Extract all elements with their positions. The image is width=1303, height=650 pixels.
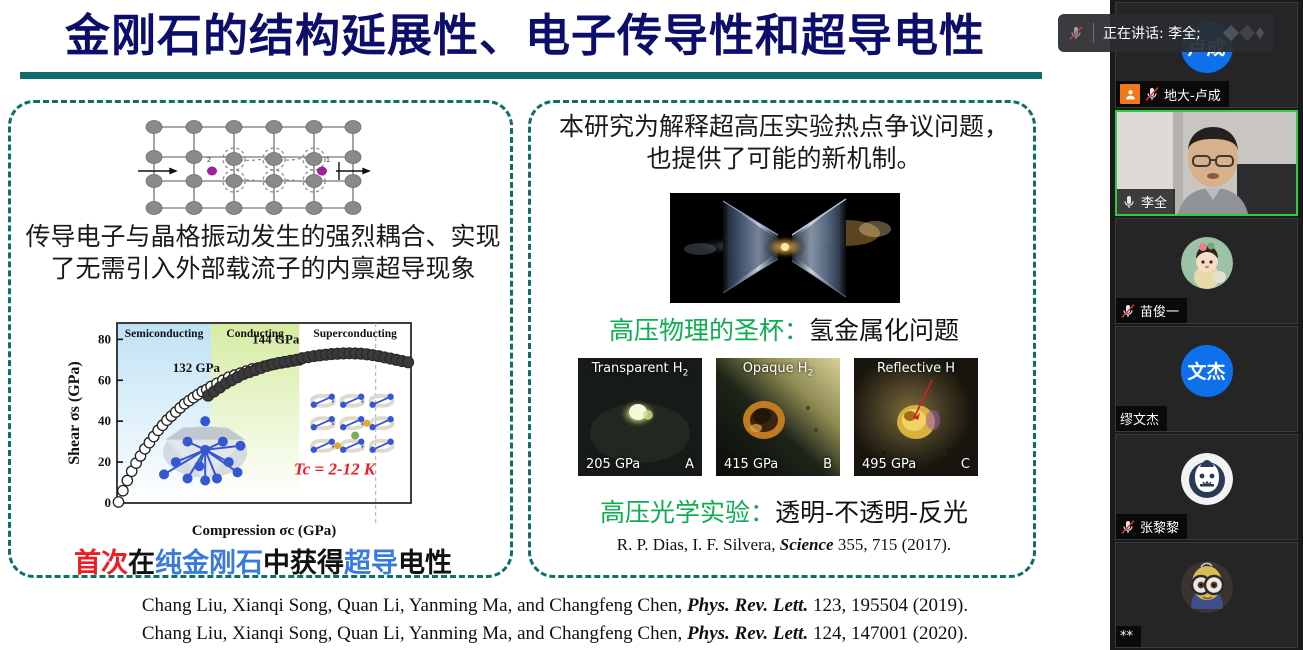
participant-name-chip: 苗俊一	[1116, 298, 1187, 323]
speaking-text: 正在讲话: 李全;	[1103, 23, 1201, 43]
participant-name-chip: 李全	[1117, 189, 1175, 214]
citation-authors: R. P. Dias, I. F. Silvera,	[617, 535, 780, 554]
svg-text:2: 2	[207, 157, 211, 164]
participant-name: 张黎黎	[1140, 517, 1179, 536]
title-underline-rule	[20, 72, 1042, 79]
participant-tile-2[interactable]: 苗俊一	[1115, 218, 1298, 324]
sample-image-b: Opaque H2 415 GPa B	[716, 358, 840, 476]
banner-divider	[1093, 23, 1094, 43]
right-panel-heading: 本研究为解释超高压实验热点争议问题， 也提供了可能的新机制。	[539, 111, 1029, 174]
zoom-logo-icon	[1222, 24, 1264, 42]
svg-text:Shear σs (GPa): Shear σs (GPa)	[66, 361, 83, 465]
host-badge-icon	[1120, 84, 1140, 104]
avatar-initials: 文杰	[1187, 357, 1225, 384]
right-head-line2: 也提供了可能的新机制。	[539, 143, 1029, 175]
participant-name-chip: 张黎黎	[1116, 514, 1187, 539]
mic-muted-icon	[1144, 86, 1160, 102]
optics-green-text: 高压光学实验：	[600, 498, 775, 527]
ref-2-authors: Chang Liu, Xianqi Song, Quan Li, Yanming…	[142, 623, 687, 644]
reference-item: Chang Liu, Xianqi Song, Quan Li, Yanming…	[0, 592, 1110, 620]
left-panel-caption: 传导电子与晶格振动发生的强烈耦合、实现 了无需引入外部载流子的内禀超导现象	[17, 221, 509, 284]
participant-name: 苗俊一	[1140, 301, 1179, 320]
active-speaker-banner: 正在讲话: 李全;	[1058, 14, 1274, 52]
participant-tile-3[interactable]: 文杰缪文杰	[1115, 326, 1298, 432]
mic-muted-icon	[1120, 519, 1136, 535]
participant-name-chip: 缪文杰	[1116, 406, 1167, 431]
highlight-segment-2: 纯金刚石	[155, 548, 263, 579]
shear-vs-compression-chart: SemiconductingConductingSuperconducting0…	[63, 311, 418, 541]
participant-name: 李全	[1141, 192, 1167, 211]
grail-green-text: 高压物理的圣杯：	[609, 316, 809, 345]
highlight-segment-5: 电性	[398, 548, 452, 579]
sample-image-c: Reflective H 495 GPa C	[854, 358, 978, 476]
svg-text:80: 80	[98, 331, 111, 346]
participant-tile-5[interactable]: **	[1115, 542, 1298, 648]
video-participant-sidebar[interactable]: 卢成 地大-卢成 李全	[1110, 0, 1303, 650]
left-caption-line2: 了无需引入外部载流子的内禀超导现象	[17, 253, 509, 285]
avatar	[1181, 237, 1233, 289]
svg-text:Compression σc (GPa): Compression σc (GPa)	[192, 523, 337, 539]
citation-rest: 355, 715 (2017).	[834, 535, 952, 554]
participant-name-chip: 地大-卢成	[1116, 81, 1229, 107]
presentation-slide: 金刚石的结构延展性、电子传导性和超导电性	[0, 0, 1110, 650]
left-panel-highlight-line: 首次在纯金刚石中获得超导电性	[17, 541, 509, 580]
optics-line: 高压光学实验：透明-不透明-反光	[539, 493, 1029, 529]
grail-line: 高压物理的圣杯：氢金属化问题	[539, 311, 1029, 347]
svg-text:1: 1	[326, 157, 330, 164]
ref-1-authors: Chang Liu, Xianqi Song, Quan Li, Yanming…	[142, 595, 687, 616]
participant-name: **	[1120, 629, 1133, 644]
mic-on-icon	[1121, 194, 1137, 210]
right-content-panel: 本研究为解释超高压实验热点争议问题， 也提供了可能的新机制。	[528, 100, 1036, 578]
participant-name-chip: **	[1116, 626, 1141, 647]
right-panel-citation: R. P. Dias, I. F. Silvera, Science 355, …	[539, 535, 1029, 555]
participant-name: 缪文杰	[1120, 409, 1159, 428]
citation-journal: Science	[780, 535, 834, 554]
left-content-panel: 2 1 传导电子与晶格振动发生的强烈耦合、实现 了无需引入外部载流子的内禀超导现…	[8, 100, 513, 578]
svg-text:144 GPa: 144 GPa	[252, 331, 300, 346]
svg-text:60: 60	[98, 372, 111, 387]
avatar: 文杰	[1181, 345, 1233, 397]
svg-text:Tc = 2-12 K: Tc = 2-12 K	[294, 459, 377, 478]
svg-text:Superconducting: Superconducting	[313, 328, 397, 340]
highlight-segment-3: 中获得	[263, 548, 344, 579]
avatar	[1181, 453, 1233, 505]
left-caption-line1: 传导电子与晶格振动发生的强烈耦合、实现	[17, 221, 509, 253]
highlight-segment-1: 在	[128, 548, 155, 579]
reference-list: Chang Liu, Xianqi Song, Quan Li, Yanming…	[0, 592, 1110, 647]
svg-text:Semiconducting: Semiconducting	[125, 328, 204, 340]
svg-text:0: 0	[105, 495, 112, 510]
hydrogen-sample-image-row: Transparent H2 205 GPa A	[578, 358, 978, 478]
optics-black-text: 透明-不透明-反光	[775, 498, 968, 527]
right-head-line1: 本研究为解释超高压实验热点争议问题，	[539, 111, 1029, 143]
highlight-segment-4: 超导	[344, 548, 398, 579]
reference-item: Chang Liu, Xianqi Song, Quan Li, Yanming…	[0, 620, 1110, 648]
avatar	[1181, 561, 1233, 613]
grail-black-text: 氢金属化问题	[809, 316, 959, 345]
ref-2-journal: Phys. Rev. Lett.	[687, 623, 808, 644]
participant-name: 地大-卢成	[1164, 85, 1221, 104]
sample-image-a: Transparent H2 205 GPa A	[578, 358, 702, 476]
participant-tile-1[interactable]: 李全	[1115, 110, 1298, 216]
svg-text:132 GPa: 132 GPa	[173, 360, 221, 375]
svg-text:20: 20	[98, 454, 111, 469]
participant-tile-4[interactable]: 张黎黎	[1115, 434, 1298, 540]
slide-title: 金刚石的结构延展性、电子传导性和超导电性	[0, 8, 1050, 64]
diamond-anvil-cell-photo	[670, 193, 900, 303]
mic-muted-icon	[1120, 303, 1136, 319]
ref-1-journal: Phys. Rev. Lett.	[687, 595, 808, 616]
svg-text:40: 40	[98, 413, 111, 428]
ref-2-rest: 124, 147001 (2020).	[808, 623, 968, 644]
lattice-cooper-pair-diagram: 2 1	[136, 113, 371, 218]
ref-1-rest: 123, 195504 (2019).	[808, 595, 968, 616]
highlight-segment-0: 首次	[74, 548, 128, 579]
mic-muted-icon	[1068, 25, 1084, 41]
